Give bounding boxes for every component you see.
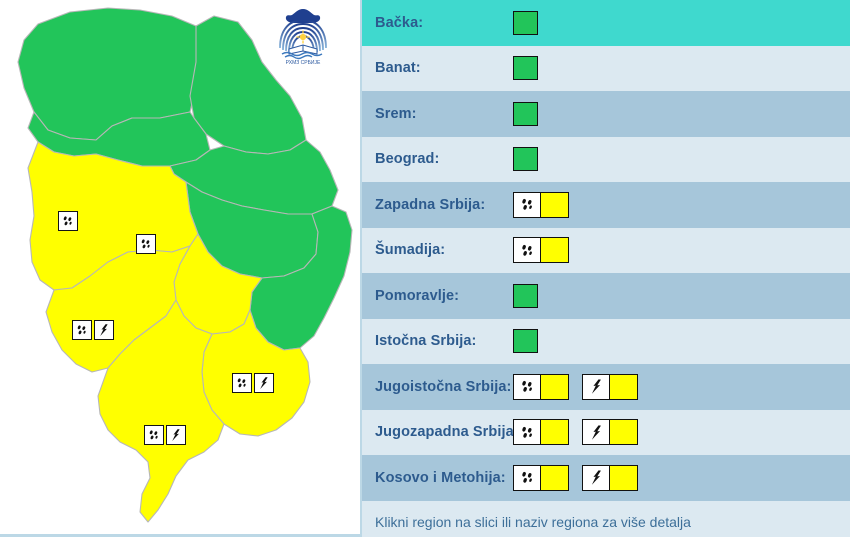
warning-badges bbox=[513, 237, 569, 263]
warning-badges bbox=[513, 11, 538, 35]
warning-badges bbox=[513, 329, 538, 353]
map-warning-marker[interactable] bbox=[136, 234, 156, 254]
region-row[interactable]: Istočna Srbija: bbox=[362, 319, 850, 365]
rain-icon[interactable] bbox=[58, 211, 78, 231]
thunderstorm-icon[interactable] bbox=[254, 373, 274, 393]
serbia-warning-map[interactable]: РХМЗ СРБИЈЕ bbox=[0, 0, 362, 537]
level-swatch-yellow bbox=[541, 466, 568, 490]
thunderstorm-icon[interactable] bbox=[166, 425, 186, 445]
region-row[interactable]: Jugozapadna Srbija: bbox=[362, 410, 850, 456]
region-row[interactable]: Kosovo i Metohija: bbox=[362, 455, 850, 501]
map-warning-marker[interactable] bbox=[58, 211, 78, 231]
rain-icon bbox=[514, 193, 541, 217]
warning-badge-rain-yellow bbox=[513, 419, 569, 445]
warning-badge-thunderstorm-yellow bbox=[582, 419, 638, 445]
rain-icon[interactable] bbox=[232, 373, 252, 393]
region-row[interactable]: Šumadija: bbox=[362, 228, 850, 274]
region-name-label[interactable]: Istočna Srbija: bbox=[375, 333, 513, 349]
region-name-label[interactable]: Šumadija: bbox=[375, 242, 513, 258]
region-row[interactable]: Jugoistočna Srbija: bbox=[362, 364, 850, 410]
rain-icon bbox=[514, 375, 541, 399]
warning-badges bbox=[513, 192, 569, 218]
level-swatch-green bbox=[514, 285, 537, 307]
region-name-label[interactable]: Zapadna Srbija: bbox=[375, 197, 513, 213]
region-row[interactable]: Srem: bbox=[362, 91, 850, 137]
warning-badges bbox=[513, 284, 538, 308]
map-warning-marker[interactable] bbox=[72, 320, 114, 340]
level-swatch-green bbox=[514, 148, 537, 170]
region-warning-list: Bačka:Banat:Srem:Beograd:Zapadna Srbija:… bbox=[362, 0, 850, 537]
logo-caption: РХМЗ СРБИЈЕ bbox=[286, 60, 321, 66]
level-swatch-yellow bbox=[541, 375, 568, 399]
region-name-label[interactable]: Jugozapadna Srbija: bbox=[375, 424, 513, 440]
rain-icon[interactable] bbox=[136, 234, 156, 254]
warning-badge-none-green bbox=[513, 147, 538, 171]
warning-badges bbox=[513, 374, 638, 400]
map-hint: Klikni region na slici ili naziv regiona… bbox=[362, 501, 850, 537]
thunderstorm-icon bbox=[583, 466, 610, 490]
warning-badge-thunderstorm-yellow bbox=[582, 465, 638, 491]
region-name-label[interactable]: Pomoravlje: bbox=[375, 288, 513, 304]
rain-icon[interactable] bbox=[72, 320, 92, 340]
warning-badge-rain-yellow bbox=[513, 465, 569, 491]
level-swatch-yellow bbox=[610, 466, 637, 490]
level-swatch-yellow bbox=[541, 193, 568, 217]
thunderstorm-icon bbox=[583, 420, 610, 444]
warning-badge-none-green bbox=[513, 329, 538, 353]
weather-warning-page: РХМЗ СРБИЈЕ Bačka:Banat:Srem:Beograd:Zap… bbox=[0, 0, 850, 537]
level-swatch-yellow bbox=[541, 420, 568, 444]
warning-badge-none-green bbox=[513, 56, 538, 80]
region-row[interactable]: Pomoravlje: bbox=[362, 273, 850, 319]
region-row[interactable]: Banat: bbox=[362, 46, 850, 92]
warning-badge-thunderstorm-yellow bbox=[582, 374, 638, 400]
warning-badge-rain-yellow bbox=[513, 237, 569, 263]
level-swatch-green bbox=[514, 12, 537, 34]
warning-badge-rain-yellow bbox=[513, 374, 569, 400]
level-swatch-yellow bbox=[610, 375, 637, 399]
rain-icon bbox=[514, 238, 541, 262]
map-hint-text: Klikni region na slici ili naziv regiona… bbox=[375, 514, 691, 530]
thunderstorm-icon[interactable] bbox=[94, 320, 114, 340]
map-warning-marker[interactable] bbox=[144, 425, 186, 445]
map-graphic[interactable] bbox=[0, 0, 360, 534]
warning-badge-none-green bbox=[513, 102, 538, 126]
rhmz-logo: РХМЗ СРБИЈЕ bbox=[274, 4, 332, 66]
rain-icon bbox=[514, 420, 541, 444]
level-swatch-green bbox=[514, 57, 537, 79]
region-rows: Bačka:Banat:Srem:Beograd:Zapadna Srbija:… bbox=[362, 0, 850, 501]
region-name-label[interactable]: Banat: bbox=[375, 60, 513, 76]
region-row[interactable]: Zapadna Srbija: bbox=[362, 182, 850, 228]
level-swatch-green bbox=[514, 103, 537, 125]
level-swatch-yellow bbox=[610, 420, 637, 444]
rain-icon[interactable] bbox=[144, 425, 164, 445]
rain-icon bbox=[514, 466, 541, 490]
warning-badge-none-green bbox=[513, 284, 538, 308]
region-name-label[interactable]: Kosovo i Metohija: bbox=[375, 470, 513, 486]
warning-badges bbox=[513, 56, 538, 80]
thunderstorm-icon bbox=[583, 375, 610, 399]
warning-badge-none-green bbox=[513, 11, 538, 35]
warning-badges bbox=[513, 147, 538, 171]
region-name-label[interactable]: Jugoistočna Srbija: bbox=[375, 379, 513, 395]
level-swatch-green bbox=[514, 330, 537, 352]
region-name-label[interactable]: Bačka: bbox=[375, 15, 513, 31]
region-name-label[interactable]: Srem: bbox=[375, 106, 513, 122]
warning-badge-rain-yellow bbox=[513, 192, 569, 218]
warning-badges bbox=[513, 102, 538, 126]
region-row[interactable]: Beograd: bbox=[362, 137, 850, 183]
warning-badges bbox=[513, 465, 638, 491]
map-warning-marker[interactable] bbox=[232, 373, 274, 393]
level-swatch-yellow bbox=[541, 238, 568, 262]
region-row[interactable]: Bačka: bbox=[362, 0, 850, 46]
region-name-label[interactable]: Beograd: bbox=[375, 151, 513, 167]
warning-badges bbox=[513, 419, 638, 445]
